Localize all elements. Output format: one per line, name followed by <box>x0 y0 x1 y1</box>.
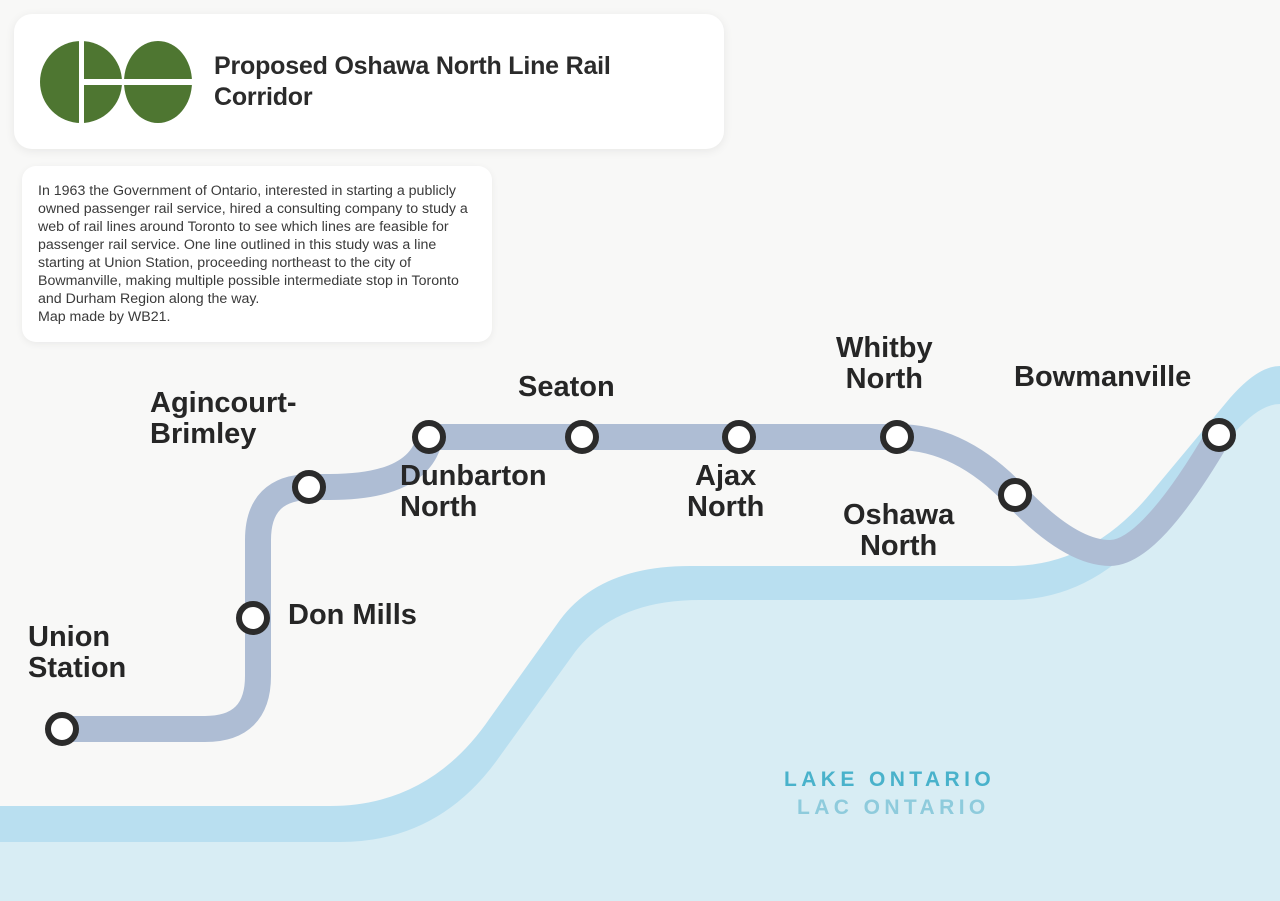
lake-ontario-label-fr: LAC ONTARIO <box>797 796 990 820</box>
page-title: Proposed Oshawa North Line Rail Corridor <box>214 51 698 112</box>
station-label-seaton: Seaton <box>518 372 615 403</box>
station-marker-union-station[interactable] <box>48 715 76 743</box>
station-label-whitby-north: Whitby North <box>836 333 933 395</box>
transit-map-page: Union Station Don Mills Agincourt- Briml… <box>0 0 1280 901</box>
lake-ontario-label-en: LAKE ONTARIO <box>784 768 995 792</box>
header-card: Proposed Oshawa North Line Rail Corridor <box>14 14 724 149</box>
station-label-agincourt-brimley: Agincourt- Brimley <box>150 388 297 450</box>
station-marker-oshawa-north[interactable] <box>1001 481 1029 509</box>
station-marker-agincourt-brimley[interactable] <box>295 473 323 501</box>
station-marker-bowmanville[interactable] <box>1205 421 1233 449</box>
station-label-ajax-north: Ajax North <box>687 461 764 523</box>
station-marker-ajax-north[interactable] <box>725 423 753 451</box>
description-body: In 1963 the Government of Ontario, inter… <box>38 182 474 308</box>
station-label-bowmanville: Bowmanville <box>1014 362 1191 393</box>
go-transit-logo-icon <box>40 36 192 128</box>
station-marker-don-mills[interactable] <box>239 604 267 632</box>
station-label-don-mills: Don Mills <box>288 600 417 631</box>
station-marker-dunbarton-north[interactable] <box>415 423 443 451</box>
description-credit: Map made by WB21. <box>38 308 474 326</box>
station-marker-whitby-north[interactable] <box>883 423 911 451</box>
station-marker-seaton[interactable] <box>568 423 596 451</box>
station-label-union-station: Union Station <box>28 622 126 684</box>
description-card: In 1963 the Government of Ontario, inter… <box>22 166 492 342</box>
station-label-oshawa-north: Oshawa North <box>843 500 954 562</box>
station-label-dunbarton-north: Dunbarton North <box>400 461 547 523</box>
